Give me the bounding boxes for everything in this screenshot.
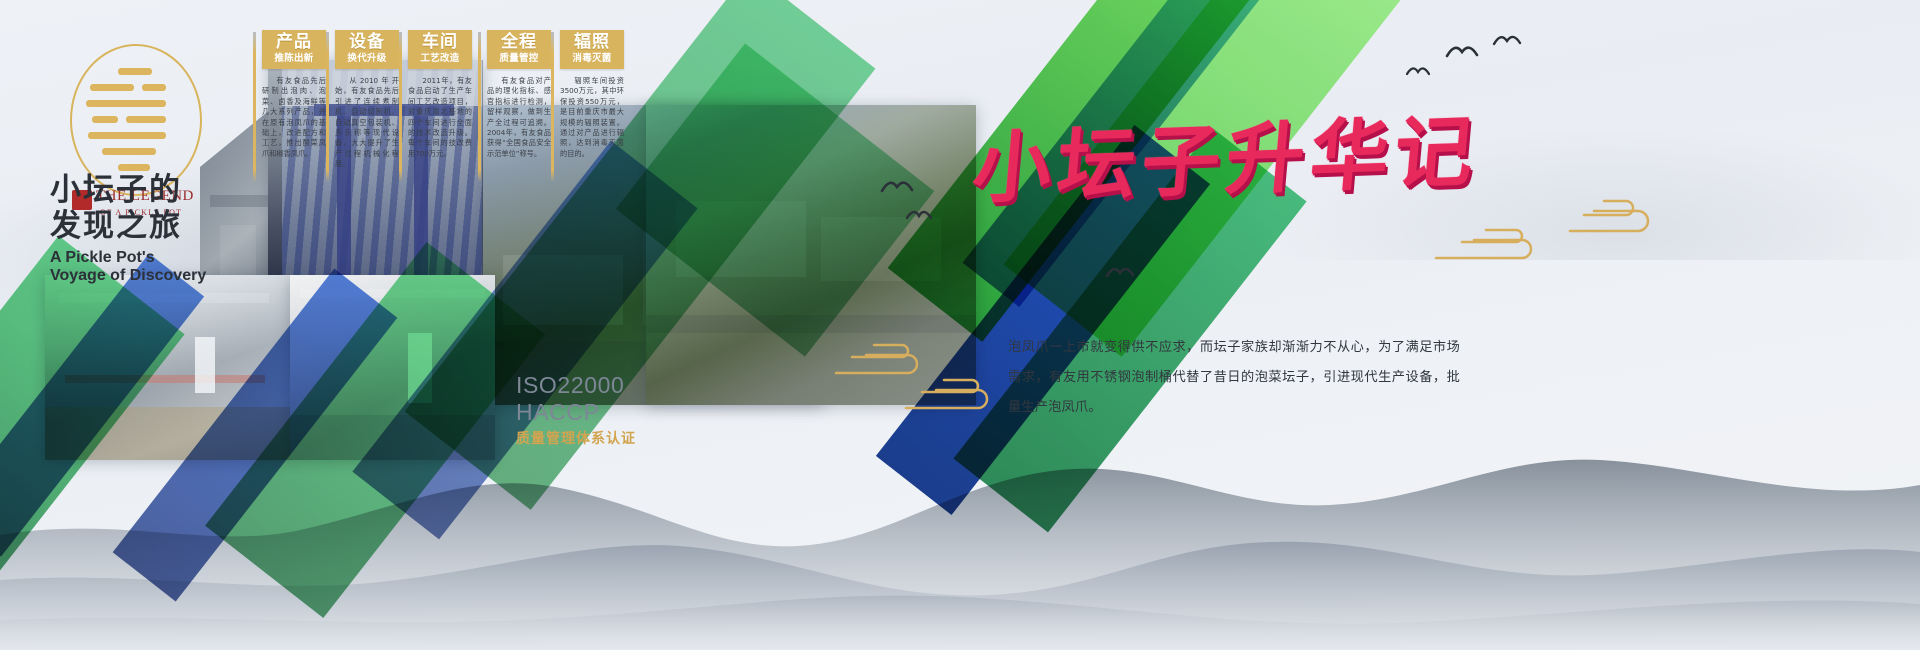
certification-block: ISO22000 HACCP 质量管理体系认证	[516, 372, 636, 448]
column-header: 产品 推陈出新	[262, 30, 326, 69]
column-title: 全程	[491, 33, 547, 52]
bird-icon	[1492, 30, 1522, 50]
column-title: 车间	[412, 33, 468, 52]
poster-headline: 小坛子升华记	[969, 89, 1480, 211]
column-rule	[253, 32, 256, 182]
bird-icon	[1445, 40, 1479, 62]
column-title: 产品	[266, 33, 322, 52]
info-column-equipment: 设备 换代升级 从2010年开始，有友食品先后引进了连续煮制机、自动切制机、自动…	[335, 30, 399, 170]
column-body: 有友食品对产品的理化指标、感官指标进行检测，留样观察，做到生产全过程可追溯。20…	[487, 76, 551, 159]
photo-clean-room-lab	[45, 275, 290, 460]
column-title: 设备	[339, 33, 395, 52]
cloud-motif-icon	[1560, 185, 1680, 245]
column-subtitle: 换代升级	[339, 53, 395, 65]
column-header: 设备 换代升级	[335, 30, 399, 69]
column-title: 辐照	[564, 33, 620, 52]
certification-iso: ISO22000	[516, 372, 636, 399]
column-body: 2011年，有友食品启动了生产车间工艺改造项目，对重庆渝北基地的四个车间进行全面…	[408, 76, 472, 159]
brand-title-cn-line1: 小坛子的	[50, 172, 182, 208]
column-header: 车间 工艺改造	[408, 30, 472, 69]
photo-aerial-plant-view	[646, 105, 976, 405]
column-header: 全程 质量管控	[487, 30, 551, 69]
column-subtitle: 工艺改造	[412, 53, 468, 65]
column-rule	[551, 32, 554, 182]
column-header: 辐照 消毒灭菌	[560, 30, 624, 69]
column-body: 从2010年开始，有友食品先后引进了连续煮制机、自动切制机、自动真空包装机、多头…	[335, 76, 399, 170]
photo-packing-line	[290, 275, 495, 460]
certification-caption: 质量管理体系认证	[516, 428, 636, 448]
column-rule	[399, 32, 402, 182]
info-column-workshop: 车间 工艺改造 2011年，有友食品启动了生产车间工艺改造项目，对重庆渝北基地的…	[408, 30, 472, 159]
brand-title-en-line2: Voyage of Discovery	[50, 266, 206, 285]
poster-canvas: THE LEGEND OF A PICKLE POT 小坛子的 发现之旅 A P…	[0, 0, 1920, 650]
poster-paragraph: 泡凤爪一上市就变得供不应求，而坛子家族却渐渐力不从心，为了满足市场需求，有友用不…	[1008, 333, 1460, 423]
column-body: 有友食品先后研制出泡肉、泡菜、卤香及海鲜等几大系列产品，并在原有泡凤爪的基础上，…	[262, 76, 326, 159]
info-column-product: 产品 推陈出新 有友食品先后研制出泡肉、泡菜、卤香及海鲜等几大系列产品，并在原有…	[262, 30, 326, 159]
cloud-motif-icon	[1430, 218, 1560, 268]
info-column-quality: 全程 质量管控 有友食品对产品的理化指标、感官指标进行检测，留样观察，做到生产全…	[487, 30, 551, 159]
column-rule	[326, 32, 329, 182]
info-column-irradiation: 辐照 消毒灭菌 辐照车间投资3500万元，其中环保投资550万元，是目前重庆市最…	[560, 30, 624, 159]
brand-title-en-line1: A Pickle Pot's	[50, 248, 155, 267]
column-subtitle: 推陈出新	[266, 53, 322, 65]
certification-haccp: HACCP	[516, 399, 636, 426]
column-rule	[478, 32, 481, 182]
column-subtitle: 质量管控	[491, 53, 547, 65]
brand-title-cn-line2: 发现之旅	[50, 208, 182, 244]
column-body: 辐照车间投资3500万元，其中环保投资550万元，是目前重庆市最大规模的辐照装置…	[560, 76, 624, 159]
bird-icon	[1405, 62, 1431, 80]
column-subtitle: 消毒灭菌	[564, 53, 620, 65]
bird-icon	[1105, 262, 1135, 282]
